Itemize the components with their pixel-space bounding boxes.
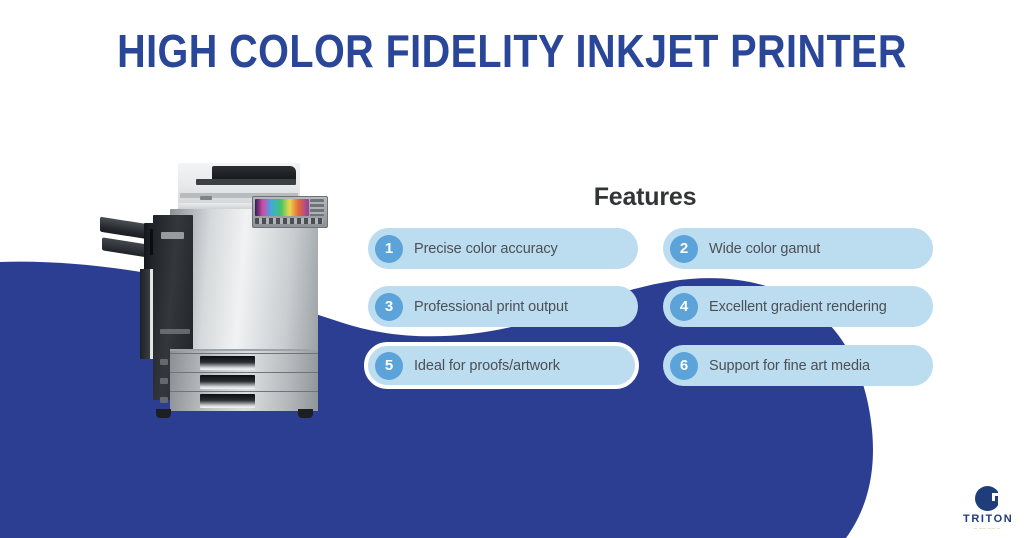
control-panel-screen (255, 199, 309, 216)
logo-tagline: — —— —— — (963, 526, 1011, 530)
paper-tray-handle (200, 375, 255, 389)
printer-model-label (160, 329, 190, 334)
feature-number-badge: 6 (670, 352, 698, 380)
feature-number-badge: 4 (670, 293, 698, 321)
feature-label: Excellent gradient rendering (709, 299, 887, 315)
feature-pill-4[interactable]: 4 Excellent gradient rendering (663, 286, 933, 327)
logo-wordmark: TRITON (963, 513, 1011, 525)
feeder-brand-badge (200, 196, 212, 200)
page-title: HIGH COLOR FIDELITY INKJET PRINTER (72, 26, 953, 77)
paper-tray-handle (200, 356, 255, 370)
paper-tray-handle (200, 394, 255, 408)
feature-label: Support for fine art media (709, 358, 870, 374)
feature-number-badge: 1 (375, 235, 403, 263)
poster-canvas: HIGH COLOR FIDELITY INKJET PRINTER (0, 0, 1024, 538)
feature-number-badge: 5 (375, 352, 403, 380)
trident-stem (998, 491, 1001, 506)
feature-pill-5[interactable]: 5 Ideal for proofs/artwork (364, 342, 639, 389)
cabinet-indicator-2 (160, 378, 168, 384)
printer-brand-logo (161, 232, 184, 239)
triton-logo[interactable]: TRITON — —— —— — (963, 486, 1011, 534)
output-tray-base-edge (140, 269, 150, 359)
cabinet-indicator-3 (160, 397, 168, 403)
paper-tray-3 (170, 391, 318, 410)
feature-pill-3[interactable]: 3 Professional print output (368, 286, 638, 327)
trident-right-prong (1004, 493, 1007, 501)
feature-pill-2[interactable]: 2 Wide color gamut (663, 228, 933, 269)
paper-tray-1 (170, 353, 318, 372)
control-panel-side-keys (310, 199, 324, 216)
feature-pill-1[interactable]: 1 Precise color accuracy (368, 228, 638, 269)
control-panel-keypad (255, 218, 323, 224)
features-heading: Features (460, 183, 830, 212)
printer-foot-left (156, 409, 171, 418)
feature-pill-6[interactable]: 6 Support for fine art media (663, 345, 933, 386)
feature-label: Wide color gamut (709, 241, 820, 257)
printer-foot-right (298, 409, 313, 418)
printer-product-image (100, 163, 340, 419)
trident-left-prong (992, 493, 995, 501)
feature-number-badge: 2 (670, 235, 698, 263)
feature-number-badge: 3 (375, 293, 403, 321)
document-feeder-slot-lower (196, 179, 296, 185)
feature-label: Precise color accuracy (414, 241, 558, 257)
cabinet-indicator-1 (160, 359, 168, 365)
paper-tray-2 (170, 372, 318, 391)
triton-trident-icon (975, 486, 1000, 511)
feature-label: Professional print output (414, 299, 568, 315)
feature-label: Ideal for proofs/artwork (414, 358, 560, 374)
